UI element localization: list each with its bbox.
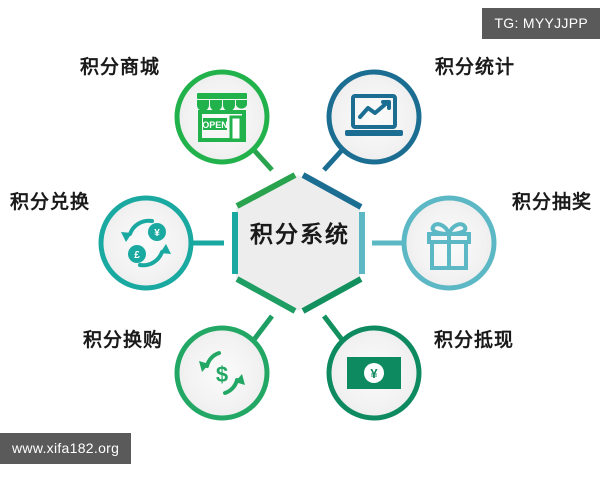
storefront-sign-text: OPEN <box>202 120 228 130</box>
svg-text:¥: ¥ <box>370 366 378 381</box>
node-label-exchange: 积分兑换 <box>10 193 90 212</box>
node-cash[interactable]: ¥ <box>329 328 419 418</box>
watermark-website: www.xifa182.org <box>0 433 131 464</box>
node-redeem[interactable]: $ <box>177 328 267 418</box>
svg-text:$: $ <box>216 362 228 387</box>
spoke-redeem <box>253 316 272 341</box>
node-label-cash: 积分抵现 <box>434 331 514 350</box>
node-mall[interactable]: OPEN <box>177 72 267 162</box>
spoke-mall <box>253 149 272 170</box>
watermark-telegram: TG: MYYJJPP <box>482 8 600 39</box>
node-label-lottery: 积分抽奖 <box>512 193 592 212</box>
spoke-cash <box>324 316 343 341</box>
node-label-mall: 积分商城 <box>80 58 160 77</box>
center-hexagon-label: 积分系统 <box>0 223 600 246</box>
spoke-stats <box>324 149 343 170</box>
infographic-canvas: OPEN ¥ <box>0 0 600 480</box>
svg-text:£: £ <box>134 250 140 261</box>
node-label-stats: 积分统计 <box>435 58 515 77</box>
node-stats[interactable] <box>329 72 419 162</box>
node-label-redeem: 积分换购 <box>83 331 163 350</box>
node-stats-ring[interactable] <box>329 72 419 162</box>
node-mall-ring[interactable] <box>177 72 267 162</box>
yuan-banknote-icon: ¥ <box>347 357 401 389</box>
